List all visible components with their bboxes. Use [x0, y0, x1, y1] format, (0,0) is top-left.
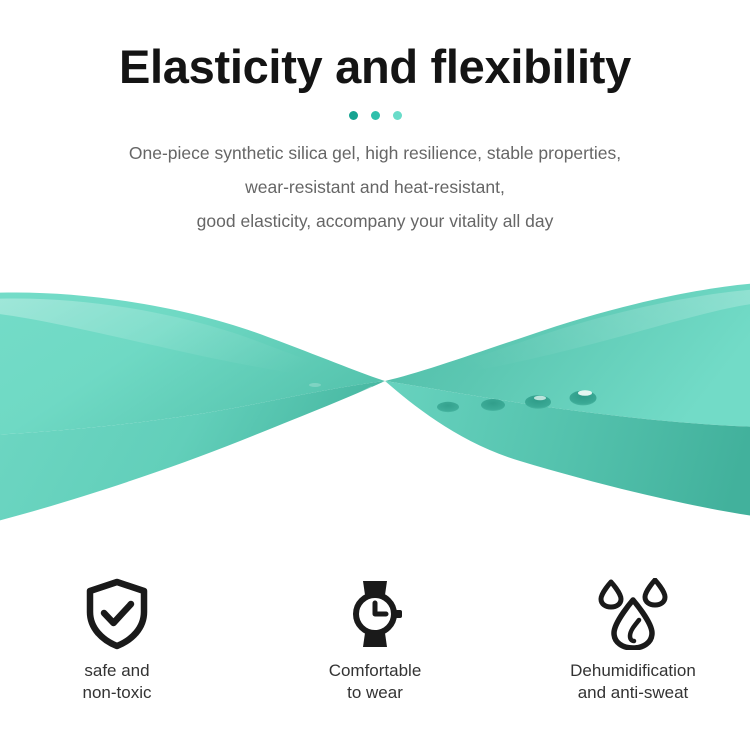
adjustment-hole-2 [481, 399, 505, 411]
water-droplets-icon [596, 578, 670, 650]
separator-dot-3 [393, 111, 402, 120]
adjustment-hole-highlight-4 [578, 390, 592, 396]
header-section: Elasticity and flexibility One-piece syn… [0, 0, 750, 238]
twisted-band-illustration [0, 255, 750, 540]
wristwatch-icon [340, 578, 410, 650]
feature-icon-wrapper [84, 578, 150, 650]
feature-label-line-1: safe and [83, 660, 152, 682]
band-surface-speck [309, 383, 321, 387]
feature-label-line-1: Comfortable [329, 660, 422, 682]
shield-check-icon [84, 578, 150, 650]
subtitle-line-3: good elasticity, accompany your vitality… [0, 204, 750, 238]
subtitle-text: One-piece synthetic silica gel, high res… [0, 136, 750, 238]
feature-label-line-2: and anti-sweat [570, 682, 696, 704]
feature-label-line-2: to wear [329, 682, 422, 704]
feature-label-safe-non-toxic: safe and non-toxic [83, 660, 152, 704]
feature-icon-wrapper [340, 578, 410, 650]
subtitle-line-1: One-piece synthetic silica gel, high res… [0, 136, 750, 170]
feature-icon-wrapper [596, 578, 670, 650]
adjustment-hole-highlight-3 [534, 396, 546, 401]
separator-dot-1 [349, 111, 358, 120]
feature-label-dehumidification: Dehumidification and anti-sweat [570, 660, 696, 704]
feature-safe-non-toxic: safe and non-toxic [27, 578, 207, 704]
subtitle-line-2: wear-resistant and heat-resistant, [0, 170, 750, 204]
adjustment-hole-1 [437, 402, 459, 412]
feature-comfortable-to-wear: Comfortable to wear [285, 578, 465, 704]
feature-label-line-1: Dehumidification [570, 660, 696, 682]
separator-dot-2 [371, 111, 380, 120]
product-feature-page: Elasticity and flexibility One-piece syn… [0, 0, 750, 750]
product-image [0, 255, 750, 540]
feature-label-line-2: non-toxic [83, 682, 152, 704]
features-section: safe and non-toxic Comfortable to wear [0, 578, 750, 704]
dot-separator [0, 111, 750, 120]
page-title: Elasticity and flexibility [0, 42, 750, 93]
feature-dehumidification: Dehumidification and anti-sweat [543, 578, 723, 704]
feature-label-comfortable-to-wear: Comfortable to wear [329, 660, 422, 704]
